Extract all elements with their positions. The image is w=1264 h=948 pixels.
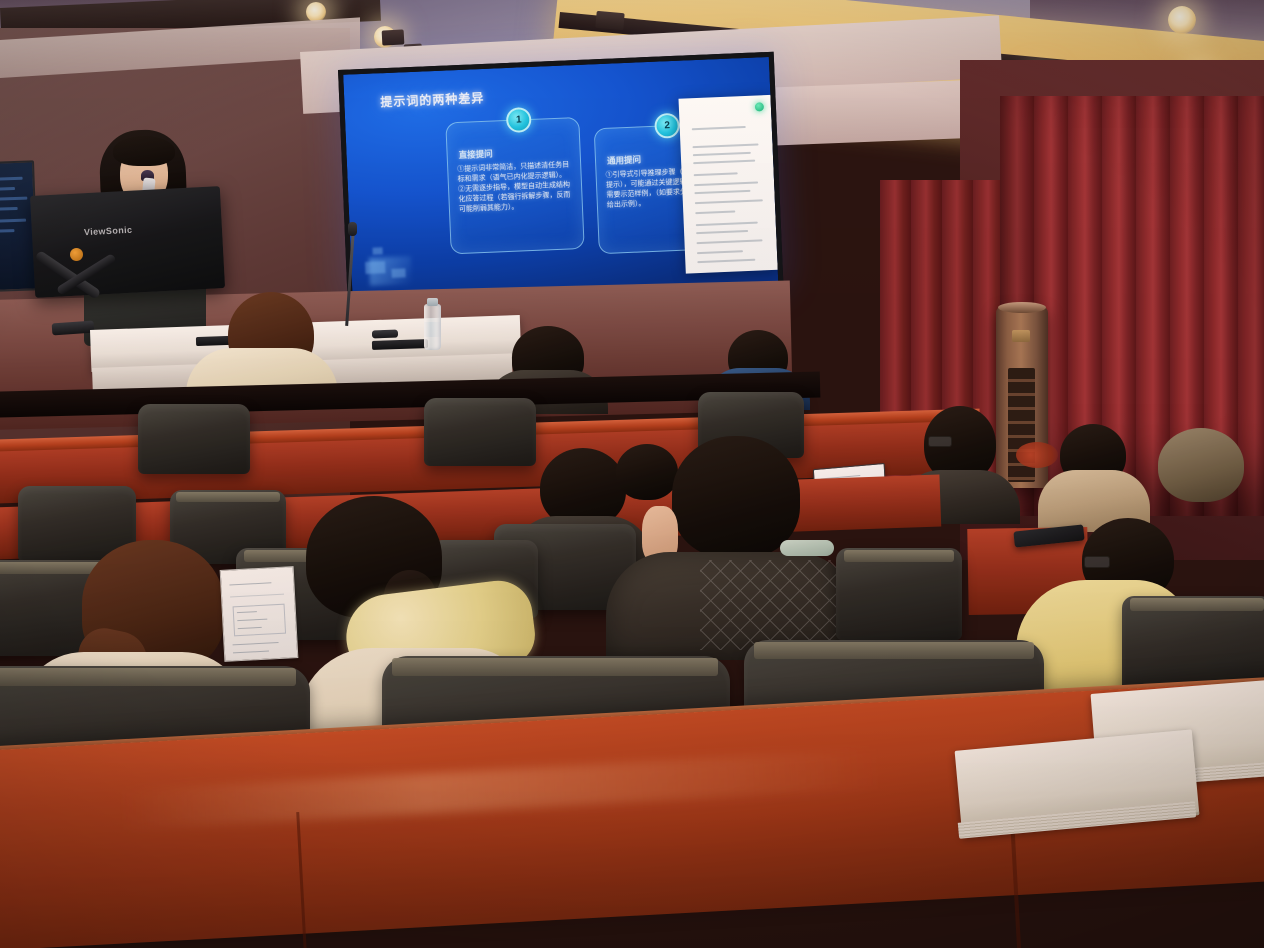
chair-headrest-band: [392, 658, 718, 676]
slide-card-badge: 2: [654, 113, 680, 139]
slide-title: 提示词的两种差异: [380, 89, 485, 110]
chair-headrest-band: [844, 550, 954, 562]
printed-handout[interactable]: [220, 566, 299, 662]
viewsonic-monitor[interactable]: ViewSonic: [30, 186, 225, 298]
monitor-arm-joint: [70, 248, 83, 261]
chat-output-panel: [679, 95, 778, 274]
attendee-center-collar: [780, 540, 834, 556]
presentation-slide: 提示词的两种差异 1 直接提问 ①提示词非常简洁，只描述清任务目标和需求（语气已…: [343, 57, 778, 301]
empty-chair[interactable]: [424, 398, 536, 466]
chair-headrest-band: [1130, 598, 1264, 611]
glasses-icon: [1084, 556, 1110, 568]
status-dot-icon: [755, 102, 764, 111]
conference-room-photo: 提示词的两种差异 1 直接提问 ①提示词非常简洁，只描述清任务目标和需求（语气已…: [0, 0, 1264, 948]
ceiling-speaker: [595, 11, 624, 30]
slide-card-badge: 1: [506, 107, 532, 133]
empty-chair[interactable]: [138, 404, 250, 474]
flower-arrangement: [1016, 442, 1058, 468]
presenter-fringe: [113, 136, 175, 166]
chair-headrest-band: [176, 492, 280, 502]
attendee-center-back-head: [616, 444, 678, 500]
led-video-wall[interactable]: 提示词的两种差异 1 直接提问 ①提示词非常简洁，只描述清任务目标和需求（语气已…: [338, 52, 784, 306]
ceiling-downlight: [1168, 6, 1196, 34]
water-bottle: [424, 304, 441, 350]
slide-card-heading: 通用提问: [607, 153, 641, 166]
slide-card-1: 1 直接提问 ①提示词非常简洁，只描述清任务目标和需求（语气已内化提示逻辑）。②…: [445, 117, 584, 254]
air-conditioner-badge: [1012, 330, 1030, 342]
ceiling-speaker: [382, 29, 405, 45]
chair-headrest-band: [0, 668, 296, 686]
chair-headrest-band: [0, 562, 104, 574]
attendee-center-quilted-head: [672, 436, 800, 558]
slide-card-body: ①提示词非常简洁，只描述清任务目标和需求（语气已内化提示逻辑）。②无需逐步指导，…: [457, 160, 574, 214]
slide-accent-glow: [369, 256, 412, 286]
glasses-icon: [928, 436, 952, 447]
air-conditioner-top: [998, 302, 1046, 313]
bottle-cap: [427, 298, 438, 306]
slide-card-heading: 直接提问: [458, 148, 492, 161]
chair-headrest-band: [754, 642, 1034, 659]
monitor-brand-label: ViewSonic: [84, 225, 133, 238]
microphone-capsule-icon: [348, 222, 357, 236]
microphone-base: [372, 330, 398, 339]
